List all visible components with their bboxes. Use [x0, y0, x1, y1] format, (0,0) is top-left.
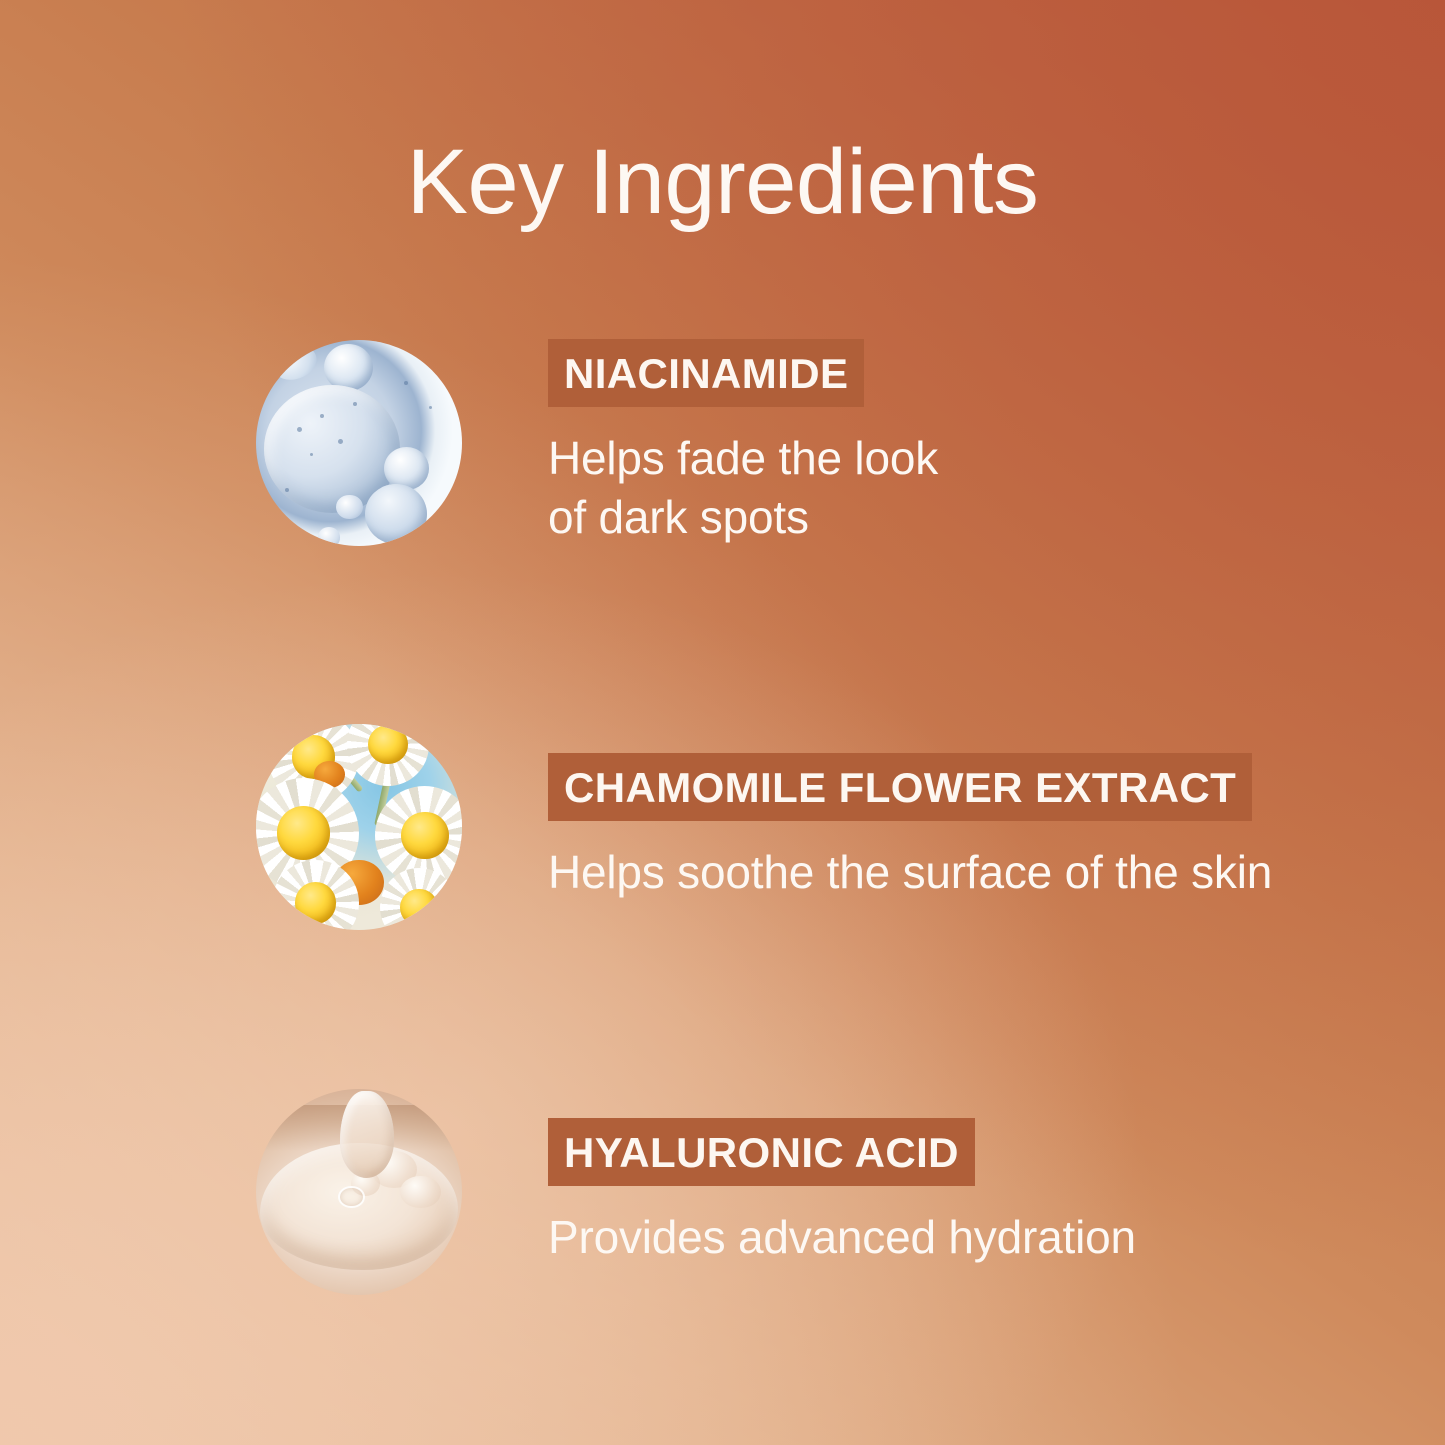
niacinamide-bubbles-photo [256, 340, 462, 546]
bubble-shape [336, 495, 363, 520]
chamomile-flowers-photo [256, 724, 462, 930]
ingredient-description: Helps fade the look of dark spots [548, 429, 1445, 547]
speck [404, 381, 408, 385]
daisy-center [401, 812, 448, 859]
daisy-flower [347, 724, 429, 786]
speck [310, 453, 313, 456]
ingredient-name-badge: NIACINAMIDE [548, 339, 864, 407]
ingredient-text-block: CHAMOMILE FLOWER EXTRACT Helps soothe th… [548, 753, 1445, 902]
bubble-shape [365, 484, 427, 544]
daisy-center [368, 725, 408, 765]
speck [429, 406, 432, 409]
daisy-center [277, 806, 330, 859]
speck [320, 414, 324, 418]
ingredient-description: Provides advanced hydration [548, 1208, 1445, 1267]
page-title: Key Ingredients [0, 136, 1445, 228]
ingredient-text-block: HYALURONIC ACID Provides advanced hydrat… [548, 1118, 1445, 1267]
gel-droplet [340, 1091, 394, 1178]
ingredient-row: CHAMOMILE FLOWER EXTRACT Helps soothe th… [0, 712, 1445, 942]
ingredient-description: Helps soothe the surface of the skin [548, 843, 1445, 902]
ingredient-row: HYALURONIC ACID Provides advanced hydrat… [0, 1077, 1445, 1307]
daisy-center [400, 889, 438, 927]
ingredient-name-badge: CHAMOMILE FLOWER EXTRACT [548, 753, 1252, 821]
hyaluronic-acid-gel-photo [256, 1089, 462, 1295]
ingredient-row: NIACINAMIDE Helps fade the look of dark … [0, 328, 1445, 558]
speck [297, 427, 302, 432]
bubble-shape [268, 340, 321, 385]
ingredient-name-badge: HYALURONIC ACID [548, 1118, 975, 1186]
bubble-shape [318, 527, 341, 546]
ingredient-text-block: NIACINAMIDE Helps fade the look of dark … [548, 339, 1445, 547]
speck [353, 402, 357, 406]
daisy-center [295, 882, 337, 924]
